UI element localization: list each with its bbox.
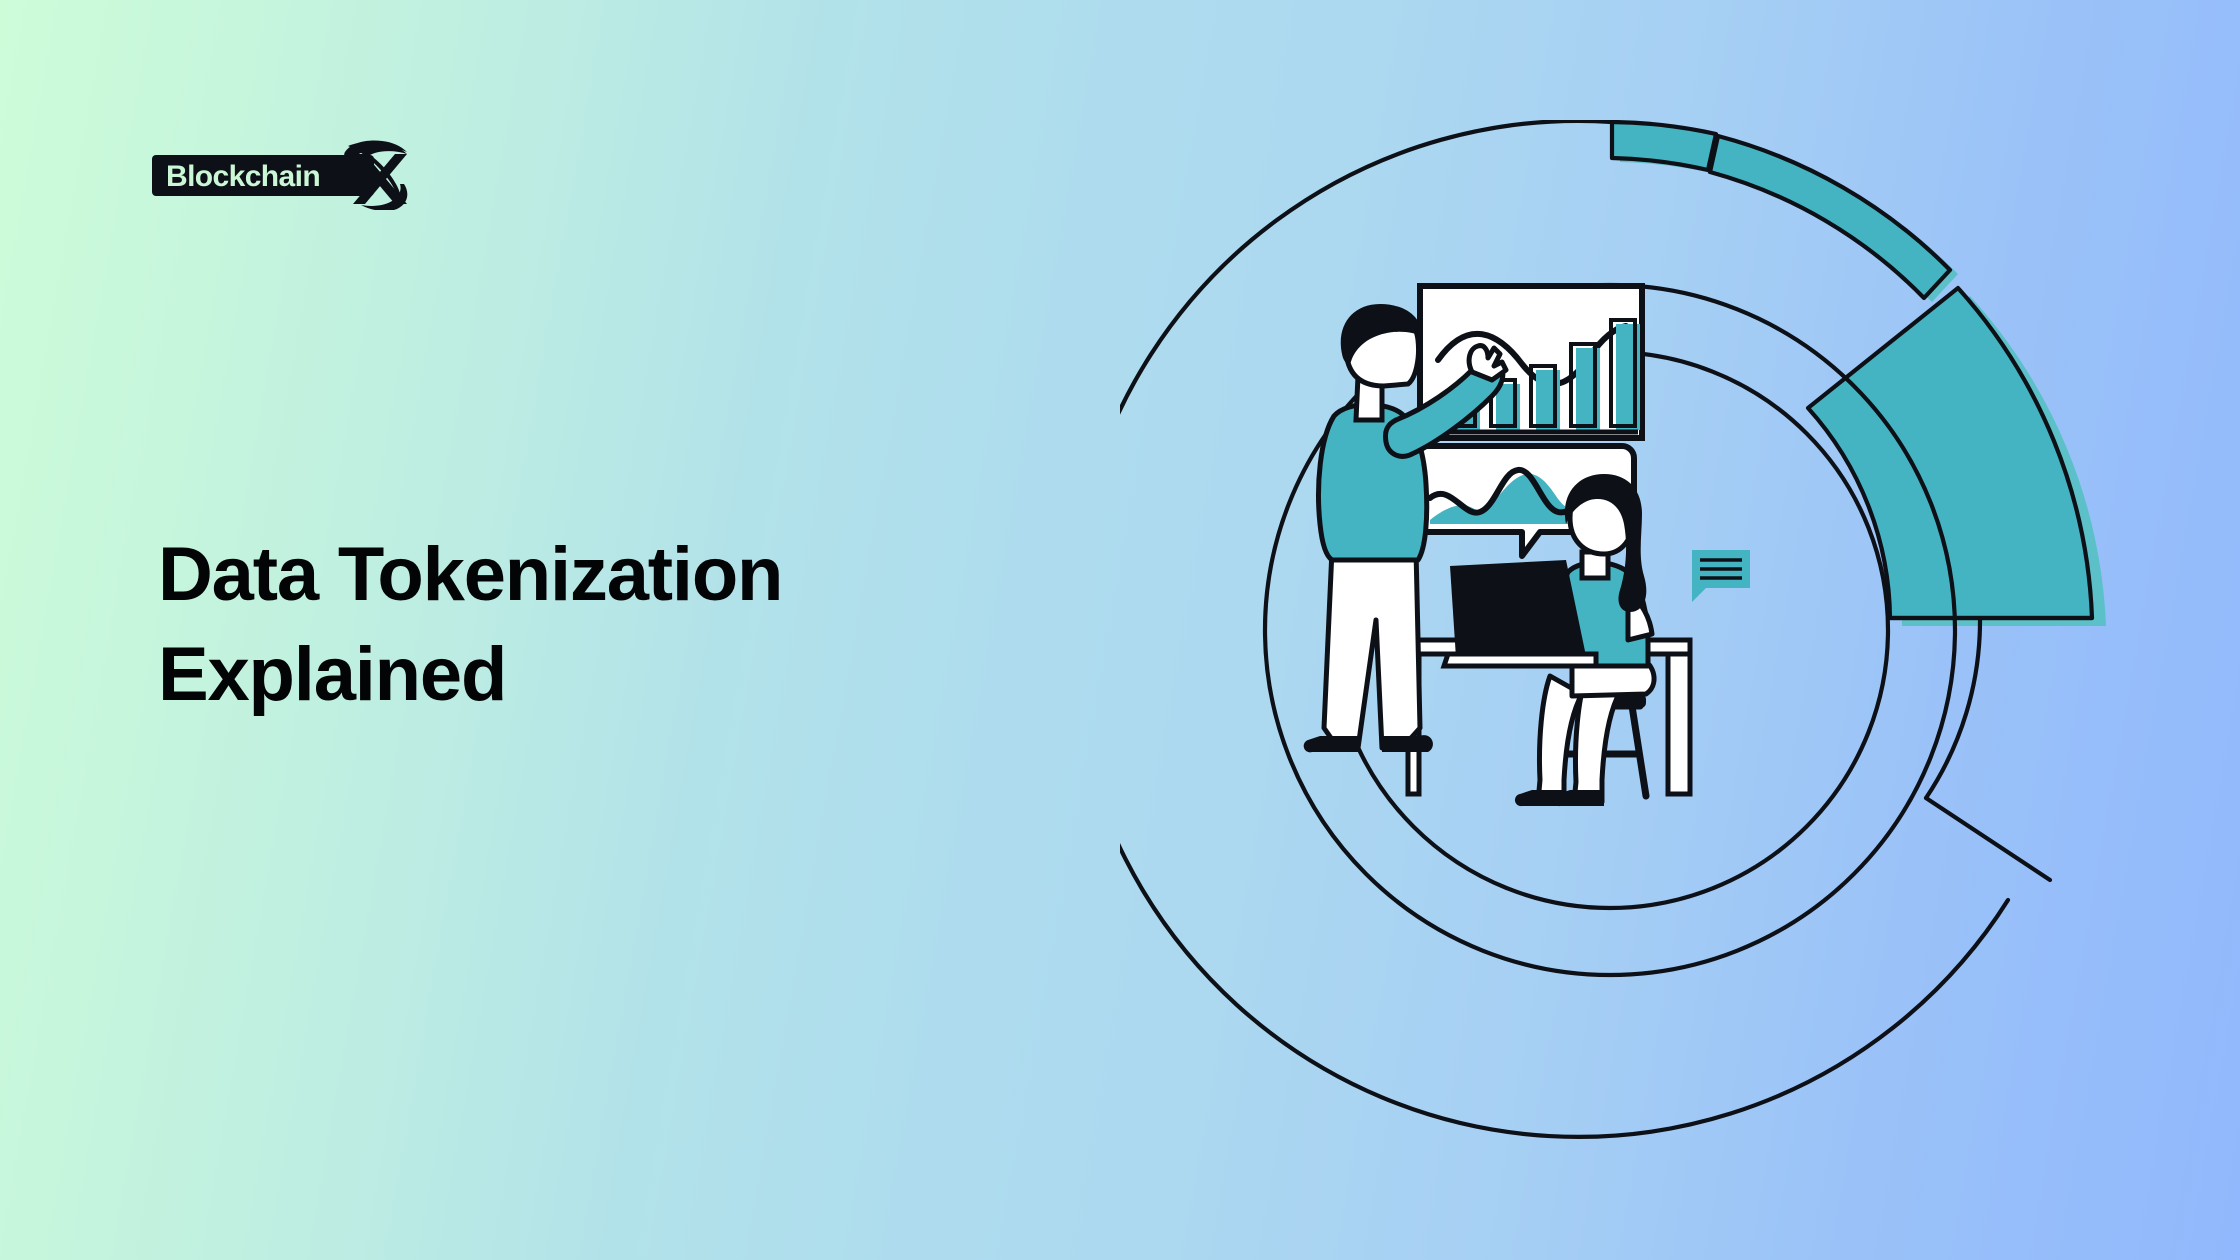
donut-segment-1 bbox=[1612, 122, 1716, 170]
outline-divider-3 bbox=[1926, 798, 2050, 880]
page-title: Data Tokenization Explained bbox=[158, 525, 978, 725]
brand-logo[interactable]: Blockchain bbox=[152, 140, 422, 210]
page-title-line-1: Data Tokenization bbox=[158, 525, 978, 625]
donut-segment-2 bbox=[1710, 136, 1950, 298]
hero-illustration bbox=[1120, 120, 2180, 1140]
illustration-scene bbox=[1304, 286, 1750, 806]
message-bubble-icon bbox=[1692, 550, 1750, 602]
donut-chart-segments bbox=[1612, 122, 2092, 618]
logo-wordmark: Blockchain bbox=[166, 160, 320, 193]
page-title-line-2: Explained bbox=[158, 625, 978, 725]
